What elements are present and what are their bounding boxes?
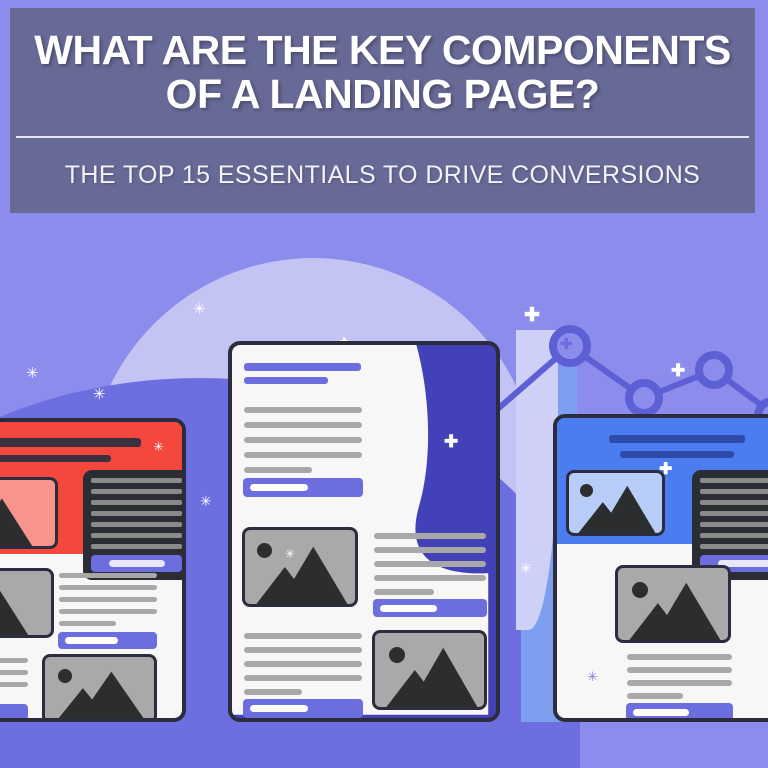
center-text-line [244,633,362,639]
plus-icon: ✚ [444,433,458,450]
sparkle-icon: ✳ [93,387,106,402]
page-title: WHAT ARE THE KEY COMPONENTS OF A LANDING… [34,28,730,117]
body-text-line [59,609,157,614]
right-landing-page-card[interactable]: ✚ [553,414,768,722]
body-cta-button[interactable] [626,703,733,721]
center-text-line [244,675,362,681]
panel-line [91,511,182,516]
body-text-line [59,585,157,590]
panel-line [700,522,768,527]
center-cta-button[interactable] [243,478,363,497]
mountain-icon [245,530,355,604]
plus-icon: ✚ [524,306,540,325]
body-text-line [59,573,157,578]
center-text-line [374,547,486,553]
center-title-bar [244,363,361,371]
sparkle-icon: ✳ [193,302,206,317]
center-image-placeholder-2 [372,630,487,710]
sparkle-icon: ✳ [200,494,212,508]
center-image-placeholder-1: ✳ [242,527,358,607]
content-image-placeholder-2 [42,654,157,722]
title-banner: WHAT ARE THE KEY COMPONENTS OF A LANDING… [10,8,755,213]
center-landing-page-card[interactable]: ✚ ✳ [228,341,500,722]
panel-line [700,533,768,538]
center-text-line [244,452,362,458]
body-text-line [0,658,28,663]
sparkle-icon: ✳ [520,561,532,575]
panel-line [700,489,768,494]
panel-line [91,478,182,483]
illustration-canvas: ✳ ✳ ✳ ✳ ✳ ✳ ✳ ✳ ✚ ✚ ✚ ✚ ✚ ✚ ✚ ✳ [0,0,768,768]
center-subtitle-bar [244,377,328,384]
center-text-line [244,407,362,413]
center-text-line [374,561,486,567]
sparkle-icon: ✳ [153,440,164,453]
sparkle-icon: ✳ [587,670,598,683]
content-image-placeholder [0,568,54,638]
header-title-bar [0,438,141,447]
body-text-line [59,621,116,626]
body-text-line [0,682,28,687]
body-text-line [59,597,157,602]
plus-icon: ✚ [671,362,685,379]
banner-title-area: WHAT ARE THE KEY COMPONENTS OF A LANDING… [10,8,755,136]
page-title-line-2: OF A LANDING PAGE? [166,71,600,117]
panel-line [91,500,182,505]
panel-line [700,511,768,516]
banner-subtitle-area: THE TOP 15 ESSENTIALS TO DRIVE CONVERSIO… [10,138,755,213]
left-card-body [0,554,182,722]
center-text-line [244,661,362,667]
chart-node [699,355,729,385]
header-subtitle-bar [620,451,734,458]
center-text-line [374,533,486,539]
plus-icon: ✚ [560,337,573,352]
hero-image-placeholder [0,477,58,549]
mountain-icon [618,568,728,640]
panel-line [91,544,182,549]
header-title-bar [609,435,745,443]
page-subtitle: THE TOP 15 ESSENTIALS TO DRIVE CONVERSIO… [65,161,701,190]
panel-line [700,500,768,505]
right-card-body: ✳ [557,544,768,720]
mountain-icon [569,473,662,533]
mountain-icon [0,571,51,635]
sparkle-icon: ✳ [26,366,39,381]
panel-line [91,522,182,527]
center-text-line [244,437,362,443]
center-text-line [244,422,362,428]
center-text-line [244,689,302,695]
mountain-icon [0,480,55,546]
mountain-icon [45,657,154,721]
mountain-icon [375,633,484,707]
header-subtitle-bar [0,455,111,462]
hero-image-placeholder [566,470,665,536]
center-text-line [244,467,312,473]
body-cta-button-secondary[interactable] [0,704,28,720]
chart-node [629,383,659,413]
center-text-line [244,647,362,653]
panel-line [91,533,182,538]
center-text-line [374,589,434,595]
left-landing-page-card[interactable]: ✳ [0,418,186,722]
page-title-line-1: WHAT ARE THE KEY COMPONENTS [34,27,730,73]
panel-line [91,489,182,494]
center-cta-button-3[interactable] [243,699,363,718]
center-text-line [374,575,486,581]
body-text-line [627,693,683,699]
body-text-line [627,654,732,660]
center-cta-button-2[interactable] [373,599,487,617]
content-image-placeholder [615,565,731,643]
body-text-line [0,670,28,675]
body-text-line [627,667,732,673]
panel-line [700,478,768,483]
left-card-header: ✳ [0,422,182,554]
body-text-line [627,680,732,686]
body-cta-button[interactable] [58,632,157,649]
right-card-header: ✚ [557,418,768,544]
